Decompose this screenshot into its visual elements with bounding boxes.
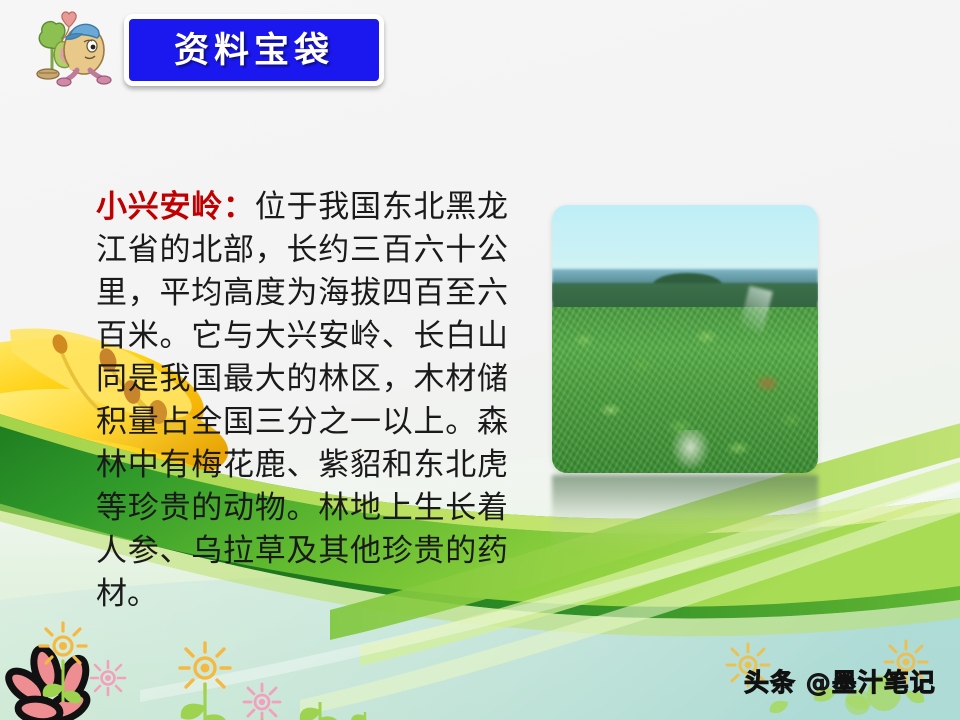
body-text: 小兴安岭：位于我国东北黑龙江省的北部，长约三百六十公里，平均高度为海拔四百至六百… <box>96 186 508 616</box>
pink-daisy-icon <box>244 684 280 720</box>
body-paragraph: 位于我国东北黑龙江省的北部，长约三百六十公里，平均高度为海拔四百至六百米。它与大… <box>96 189 508 612</box>
green-sprout-icon <box>300 702 340 720</box>
pink-daisy-icon <box>91 661 125 695</box>
walking-egg-character-with-backpack-icon <box>22 8 114 92</box>
section-title-label: 资料宝袋 <box>174 33 334 68</box>
watermark: 头条 @墨汁笔记 <box>718 661 948 703</box>
forest-photo-container <box>552 205 818 473</box>
pink-outlined-flower-icon <box>3 646 91 720</box>
slide-canvas: 资料宝袋 小兴安岭：位于我国东北黑龙江省的北部，长约三百六十公里，平均高度为海拔… <box>0 0 960 720</box>
photo-bare-tree <box>669 430 712 473</box>
forest-photo-reflection <box>552 475 818 555</box>
orange-daisy-icon <box>180 643 230 720</box>
watermark-label: 头条 @墨汁笔记 <box>744 663 936 699</box>
orange-daisy-icon <box>40 623 86 703</box>
green-sprout-icon <box>351 712 365 720</box>
slide-header <box>22 8 114 92</box>
section-title-badge: 资料宝袋 <box>124 14 384 86</box>
photo-brown-patch <box>754 374 781 393</box>
keyword-label: 小兴安岭： <box>96 189 255 225</box>
forest-photo <box>552 205 818 473</box>
